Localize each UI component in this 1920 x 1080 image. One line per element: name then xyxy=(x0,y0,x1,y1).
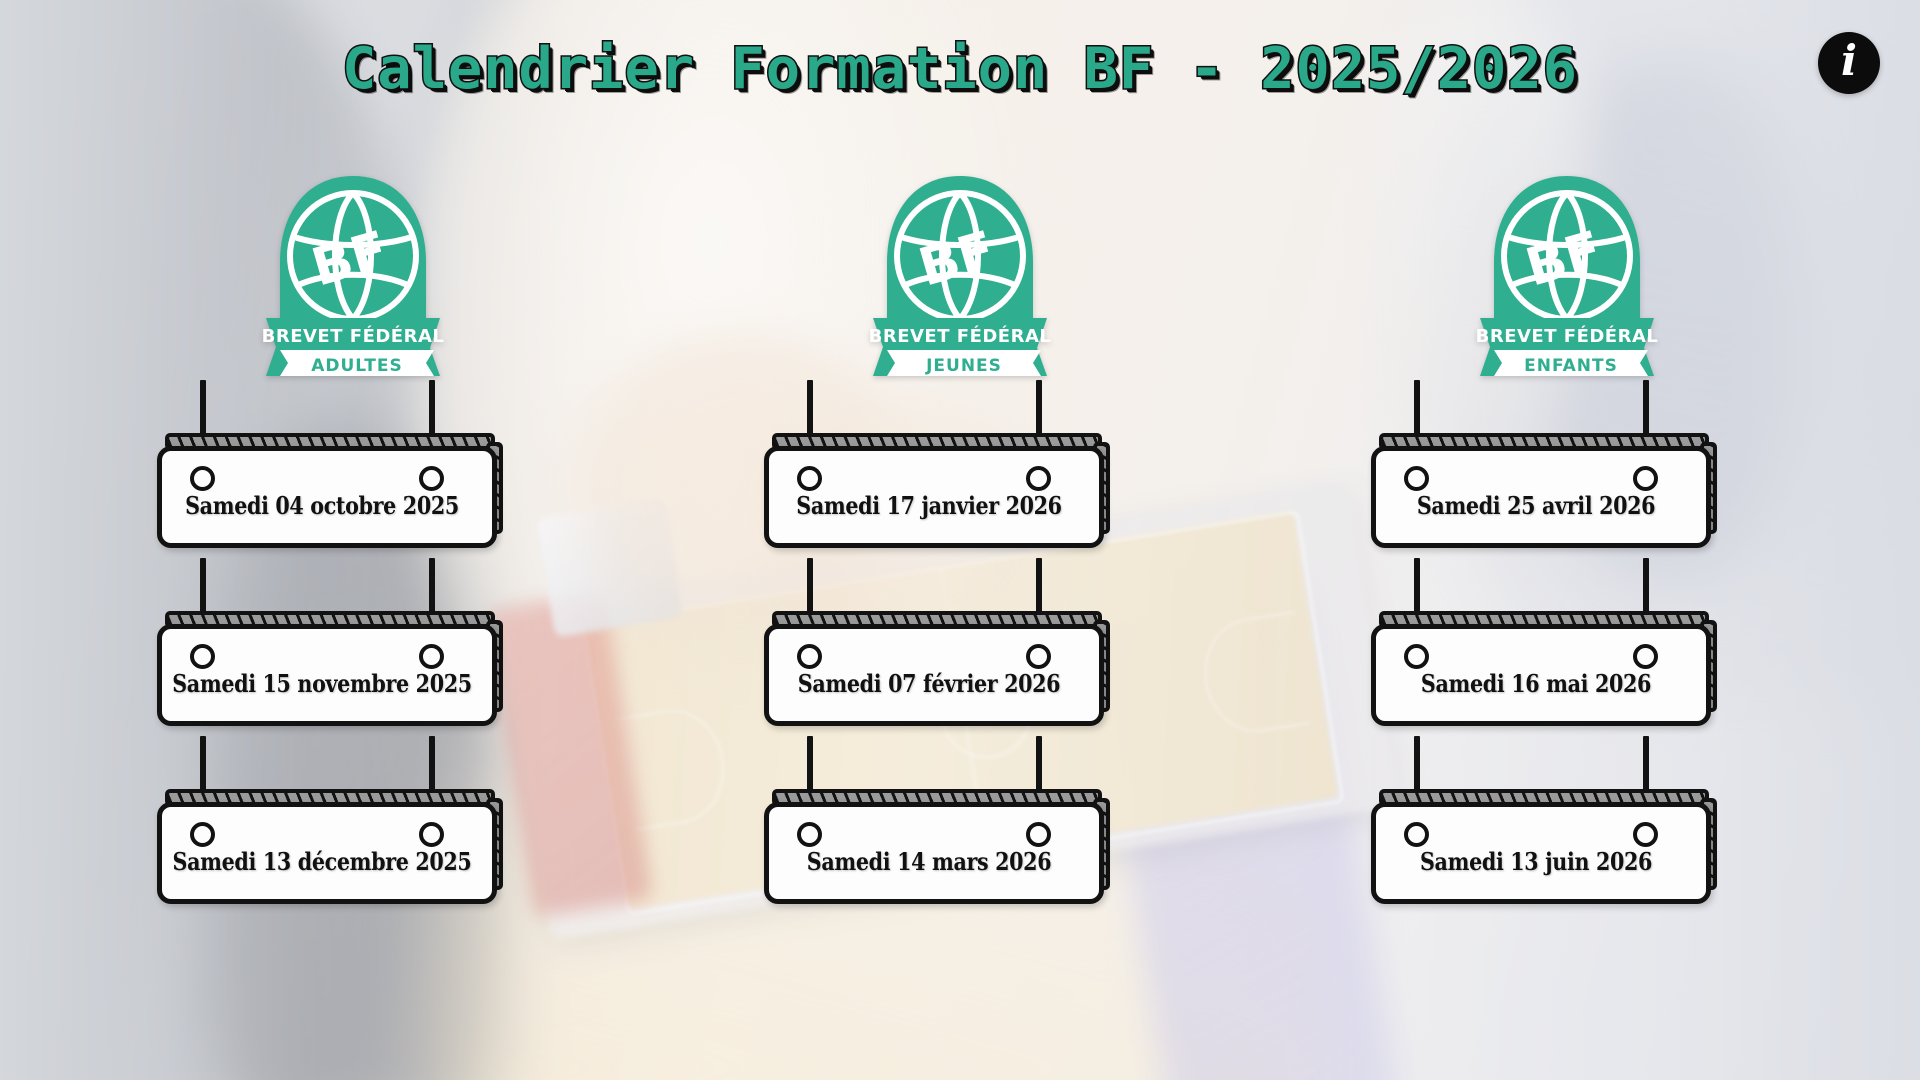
nail-icon xyxy=(1414,380,1420,440)
page-title: Calendrier Formation BF - 2025/2026 xyxy=(342,36,1578,102)
eyelet-icon xyxy=(1026,644,1051,669)
nail-icon xyxy=(200,736,206,796)
nail-icon xyxy=(1414,558,1420,618)
sign-body xyxy=(1371,802,1711,904)
bf-category-text-enfants: ENFANTS xyxy=(1524,356,1618,376)
nail-icon xyxy=(429,736,435,796)
nail-icon xyxy=(1643,558,1649,618)
eyelet-icon xyxy=(1633,822,1658,847)
eyelet-icon xyxy=(1404,644,1429,669)
column-jeunes: BF BREVET FÉDÉRAL JEUNES Samedi 17 ja xyxy=(745,170,1175,892)
poster-root: Calendrier Formation BF - 2025/2026 i BF xyxy=(0,0,1920,1080)
nail-icon xyxy=(200,380,206,440)
date-sign[interactable]: Samedi 07 février 2026 xyxy=(764,598,1156,714)
date-sign[interactable]: Samedi 17 janvier 2026 xyxy=(764,420,1156,536)
sign-body xyxy=(764,446,1104,548)
eyelet-icon xyxy=(1404,822,1429,847)
eyelet-icon xyxy=(797,466,822,491)
date-sign[interactable]: Samedi 15 novembre 2025 xyxy=(157,598,549,714)
date-sign[interactable]: Samedi 16 mai 2026 xyxy=(1371,598,1763,714)
eyelet-icon xyxy=(1633,644,1658,669)
sign-body xyxy=(764,802,1104,904)
title-container: Calendrier Formation BF - 2025/2026 xyxy=(0,36,1920,102)
sign-body xyxy=(157,802,497,904)
sign-body xyxy=(764,624,1104,726)
nail-icon xyxy=(1036,736,1042,796)
nail-icon xyxy=(1643,380,1649,440)
nail-icon xyxy=(429,380,435,440)
eyelet-icon xyxy=(1026,466,1051,491)
bf-badge-enfants[interactable]: BF BREVET FÉDÉRAL ENFANTS xyxy=(1472,170,1662,380)
date-sign[interactable]: Samedi 14 mars 2026 xyxy=(764,776,1156,892)
nail-icon xyxy=(807,380,813,440)
eyelet-icon xyxy=(797,822,822,847)
columns-container: BF BREVET FÉDÉRAL ADULTES Samedi 04 o xyxy=(0,170,1920,892)
date-sign[interactable]: Samedi 13 juin 2026 xyxy=(1371,776,1763,892)
nail-icon xyxy=(1036,380,1042,440)
sign-body xyxy=(1371,446,1711,548)
bf-category-text-adultes: ADULTES xyxy=(312,356,404,376)
date-list-adultes: Samedi 04 octobre 2025 Samedi 15 novembr… xyxy=(157,420,549,892)
bf-banner-text-adultes: BREVET FÉDÉRAL xyxy=(262,325,445,347)
nail-icon xyxy=(429,558,435,618)
nail-icon xyxy=(1036,558,1042,618)
column-enfants: BF BREVET FÉDÉRAL ENFANTS Samedi 25 a xyxy=(1352,170,1782,892)
sign-body xyxy=(1371,624,1711,726)
nail-icon xyxy=(807,558,813,618)
info-icon-glyph: i xyxy=(1841,40,1857,82)
eyelet-icon xyxy=(1404,466,1429,491)
eyelet-icon xyxy=(1026,822,1051,847)
date-sign[interactable]: Samedi 04 octobre 2025 xyxy=(157,420,549,536)
date-list-enfants: Samedi 25 avril 2026 Samedi 16 mai 2026 xyxy=(1371,420,1763,892)
column-adultes: BF BREVET FÉDÉRAL ADULTES Samedi 04 o xyxy=(138,170,568,892)
bf-badge-jeunes[interactable]: BF BREVET FÉDÉRAL JEUNES xyxy=(865,170,1055,380)
nail-icon xyxy=(1414,736,1420,796)
bf-banner-text-jeunes: BREVET FÉDÉRAL xyxy=(869,325,1052,347)
sign-body xyxy=(157,446,497,548)
eyelet-icon xyxy=(1633,466,1658,491)
nail-icon xyxy=(807,736,813,796)
eyelet-icon xyxy=(797,644,822,669)
bf-category-text-jeunes: JEUNES xyxy=(925,356,1002,376)
info-icon[interactable]: i xyxy=(1818,32,1880,94)
date-list-jeunes: Samedi 17 janvier 2026 Samedi 07 février… xyxy=(764,420,1156,892)
bf-banner-text-enfants: BREVET FÉDÉRAL xyxy=(1475,325,1658,347)
date-sign[interactable]: Samedi 13 décembre 2025 xyxy=(157,776,549,892)
bf-badge-adultes[interactable]: BF BREVET FÉDÉRAL ADULTES xyxy=(258,170,448,380)
nail-icon xyxy=(200,558,206,618)
nail-icon xyxy=(1643,736,1649,796)
sign-body xyxy=(157,624,497,726)
date-sign[interactable]: Samedi 25 avril 2026 xyxy=(1371,420,1763,536)
